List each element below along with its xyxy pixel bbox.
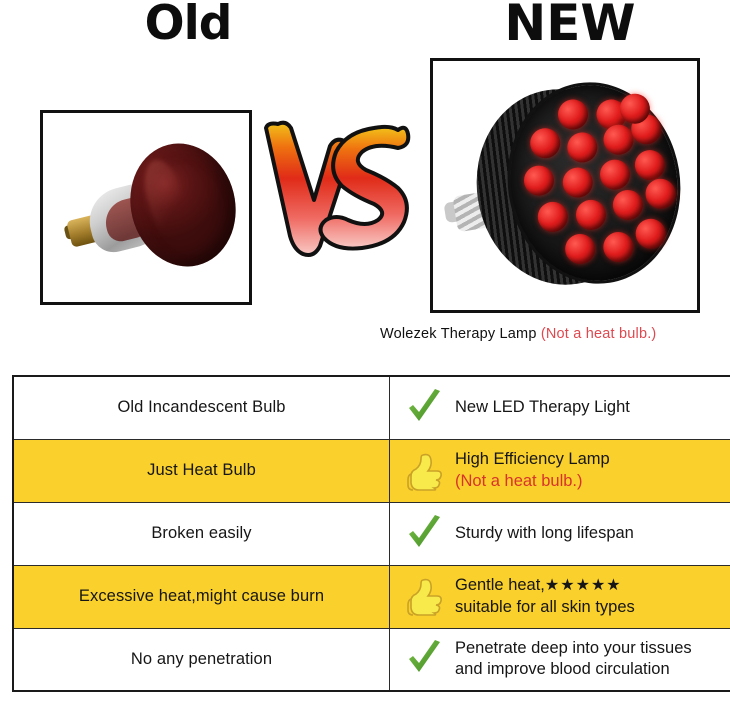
old-incandescent-bulb-photo: [43, 113, 249, 302]
table-cell-old: Just Heat Bulb: [13, 439, 390, 502]
table-cell-new: Gentle heat,★★★★★ suitable for all skin …: [390, 565, 730, 628]
old-feature-label: Excessive heat,might cause burn: [79, 587, 324, 605]
green-check-icon: [406, 514, 444, 554]
old-bulb-image-box: [40, 110, 252, 305]
caption-main: Wolezek Therapy Lamp: [380, 326, 541, 342]
led-diode: [598, 157, 632, 191]
led-diode: [565, 130, 599, 164]
heading-new: NEW: [455, 0, 685, 52]
green-check-icon: [406, 639, 444, 679]
product-caption: Wolezek Therapy Lamp (Not a heat bulb.): [380, 326, 720, 342]
led-diode: [522, 163, 556, 197]
new-feature-label-line2: suitable for all skin types: [455, 598, 635, 616]
table-cell-new: Sturdy with long lifespan: [390, 502, 730, 565]
table-cell-new: New LED Therapy Light: [390, 376, 730, 439]
led-diode: [601, 230, 635, 264]
vs-badge: [258, 108, 418, 263]
table-row: Broken easily Sturdy with long lifespan: [13, 502, 730, 565]
heading-old: Old: [78, 0, 298, 51]
led-diode: [561, 165, 595, 199]
table-cell-old: Broken easily: [13, 502, 390, 565]
led-diode: [633, 217, 667, 251]
table-row: Just Heat Bulb High Efficiency Lamp (Not…: [13, 439, 730, 502]
led-diode: [643, 177, 677, 211]
new-feature-label: Penetrate deep into your tissues: [455, 639, 692, 657]
led-diode: [536, 200, 570, 234]
comparison-table: Old Incandescent Bulb New LED Therapy Li…: [12, 375, 730, 692]
led-diode: [574, 198, 608, 232]
old-feature-label: Broken easily: [151, 524, 251, 542]
table-cell-new: High Efficiency Lamp (Not a heat bulb.): [390, 439, 730, 502]
thumbs-up-icon: [406, 451, 444, 491]
new-feature-label-line2: and improve blood circulation: [455, 660, 670, 678]
thumbs-up-icon: [406, 576, 444, 616]
green-check-icon: [406, 388, 444, 428]
table-row: Old Incandescent Bulb New LED Therapy Li…: [13, 376, 730, 439]
table-row: No any penetration Penetrate deep into y…: [13, 628, 730, 691]
headings-row: Old NEW: [0, 0, 730, 52]
led-diode: [556, 97, 590, 131]
table-cell-old: Excessive heat,might cause burn: [13, 565, 390, 628]
new-feature-note: (Not a heat bulb.): [455, 472, 583, 490]
new-feature-label: Sturdy with long lifespan: [455, 524, 634, 542]
new-feature-label: High Efficiency Lamp: [455, 450, 610, 468]
new-feature-label: Gentle heat,: [455, 576, 545, 594]
table-cell-new: Penetrate deep into your tissues and imp…: [390, 628, 730, 691]
new-led-therapy-lamp-photo: [433, 61, 697, 310]
led-diode: [563, 232, 597, 266]
new-lamp-image-box: [430, 58, 700, 313]
new-feature-label: New LED Therapy Light: [455, 398, 630, 416]
table-row: Excessive heat,might cause burn Gentle h…: [13, 565, 730, 628]
led-diode: [528, 126, 562, 160]
led-diode: [633, 148, 667, 182]
old-feature-label: Just Heat Bulb: [147, 461, 256, 479]
vs-badge-icon: [258, 108, 418, 263]
caption-note: (Not a heat bulb.): [541, 326, 657, 342]
old-feature-label: No any penetration: [131, 650, 272, 668]
table-cell-old: No any penetration: [13, 628, 390, 691]
old-feature-label: Old Incandescent Bulb: [117, 398, 285, 416]
led-diode: [611, 188, 645, 222]
star-rating: ★★★★★: [545, 577, 622, 594]
table-cell-old: Old Incandescent Bulb: [13, 376, 390, 439]
